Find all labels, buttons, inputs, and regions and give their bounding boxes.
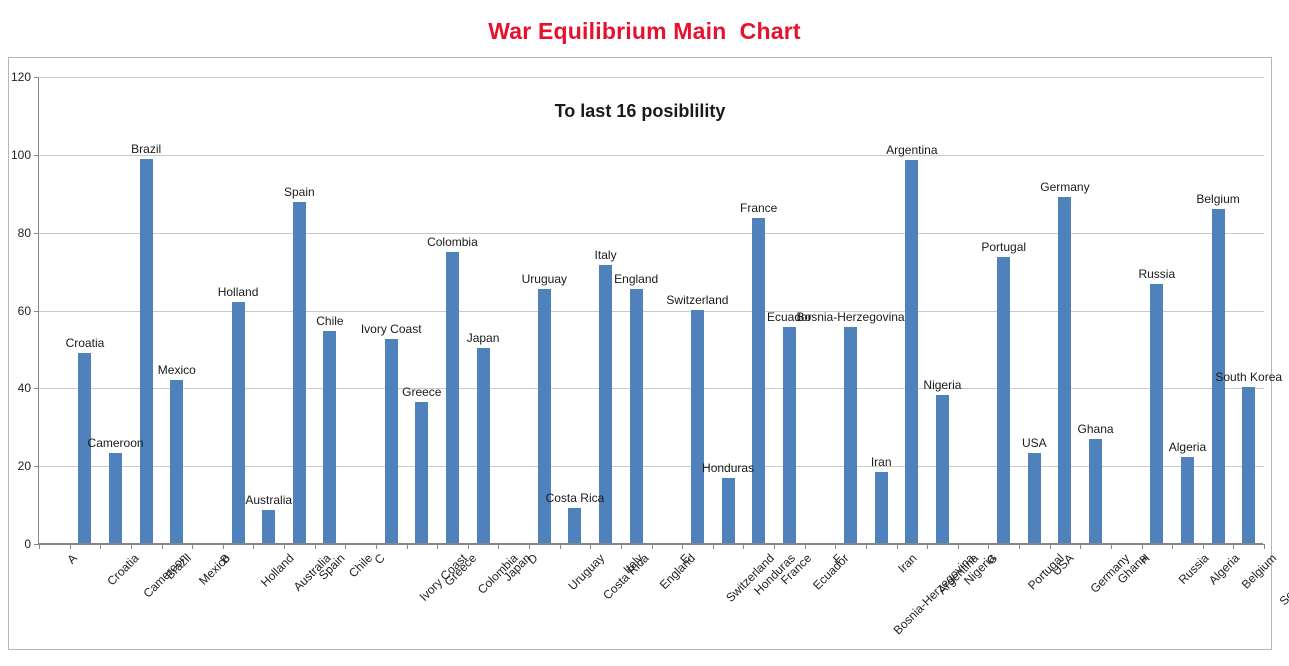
x-tick-mark — [1080, 544, 1081, 549]
x-tick-mark — [376, 544, 377, 549]
y-tick-label: 0 — [0, 537, 31, 551]
bar-data-label: Spain — [284, 185, 315, 199]
y-tick-label: 20 — [0, 459, 31, 473]
bar[interactable] — [568, 508, 581, 543]
x-tick-mark — [131, 544, 132, 549]
x-tick-mark — [284, 544, 285, 549]
x-tick-mark — [70, 544, 71, 549]
bar-data-label: Colombia — [427, 235, 478, 249]
x-tick-mark — [958, 544, 959, 549]
bar[interactable] — [323, 331, 336, 543]
y-tick-mark — [34, 311, 39, 312]
bar[interactable] — [232, 302, 245, 543]
bar-data-label: Argentina — [886, 143, 937, 157]
bar[interactable] — [936, 395, 949, 543]
x-tick-mark — [1203, 544, 1204, 549]
x-tick-mark — [743, 544, 744, 549]
bar[interactable] — [385, 339, 398, 543]
x-tick-mark — [1233, 544, 1234, 549]
bar[interactable] — [477, 348, 490, 543]
bar[interactable] — [293, 202, 306, 543]
bar-data-label: USA — [1022, 436, 1047, 450]
bar-data-label: Algeria — [1169, 440, 1206, 454]
x-tick-mark — [498, 544, 499, 549]
x-tick-mark — [223, 544, 224, 549]
bar-data-label: Mexico — [158, 363, 196, 377]
x-tick-mark — [1111, 544, 1112, 549]
bar-data-label: South Korea — [1215, 370, 1282, 384]
x-tick-mark — [100, 544, 101, 549]
x-tick-mark — [713, 544, 714, 549]
bar-data-label: Nigeria — [923, 378, 961, 392]
x-tick-mark — [805, 544, 806, 549]
gridline — [39, 77, 1264, 78]
x-tick-mark — [1172, 544, 1173, 549]
x-tick-mark — [162, 544, 163, 549]
y-tick-label: 60 — [0, 304, 31, 318]
x-tick-mark — [927, 544, 928, 549]
x-tick-mark — [835, 544, 836, 549]
x-tick-mark — [621, 544, 622, 549]
bar-data-label: Italy — [595, 248, 617, 262]
x-tick-mark — [253, 544, 254, 549]
plot-area: 020406080100120 CroatiaCameroonBrazilMex… — [38, 77, 1263, 544]
bar-data-label: Brazil — [131, 142, 161, 156]
x-tick-mark — [1142, 544, 1143, 549]
bar[interactable] — [630, 289, 643, 543]
bar[interactable] — [1181, 457, 1194, 543]
bar[interactable] — [722, 478, 735, 543]
y-tick-label: 100 — [0, 148, 31, 162]
chart-title: War Equilibrium Main Chart — [0, 18, 1289, 45]
gridline — [39, 388, 1264, 389]
bar[interactable] — [262, 510, 275, 543]
x-tick-mark — [529, 544, 530, 549]
gridline — [39, 466, 1264, 467]
bar-data-label: Switzerland — [666, 293, 728, 307]
bar-data-label: Australia — [245, 493, 292, 507]
bar[interactable] — [997, 257, 1010, 543]
bar[interactable] — [905, 160, 918, 543]
x-tick-mark — [560, 544, 561, 549]
bar[interactable] — [1058, 197, 1071, 543]
bar-data-label: Uruguay — [522, 272, 567, 286]
x-tick-mark — [988, 544, 989, 549]
y-tick-mark — [34, 466, 39, 467]
bar-data-label: Germany — [1040, 180, 1089, 194]
bar[interactable] — [170, 380, 183, 543]
bar-data-label: Ivory Coast — [361, 322, 422, 336]
bar[interactable] — [783, 327, 796, 543]
y-tick-mark — [34, 155, 39, 156]
chart-container: War Equilibrium Main Chart To last 16 po… — [0, 0, 1289, 666]
bar[interactable] — [1242, 387, 1255, 543]
bar-data-label: Iran — [871, 455, 892, 469]
y-tick-mark — [34, 388, 39, 389]
bar-data-label: Holland — [218, 285, 259, 299]
y-tick-mark — [34, 77, 39, 78]
x-tick-mark — [407, 544, 408, 549]
bar[interactable] — [415, 402, 428, 543]
x-tick-mark — [590, 544, 591, 549]
bar[interactable] — [1028, 453, 1041, 543]
x-tick-mark — [437, 544, 438, 549]
x-tick-mark — [468, 544, 469, 549]
x-tick-mark — [1264, 544, 1265, 549]
x-tick-mark — [652, 544, 653, 549]
bar[interactable] — [1150, 284, 1163, 543]
x-tick-mark — [192, 544, 193, 549]
x-tick-mark — [345, 544, 346, 549]
bar[interactable] — [752, 218, 765, 543]
bar-data-label: Portugal — [981, 240, 1026, 254]
gridline — [39, 233, 1264, 234]
bar-data-label: Ghana — [1078, 422, 1114, 436]
x-tick-mark — [866, 544, 867, 549]
x-tick-mark — [1019, 544, 1020, 549]
bar-data-label: Cameroon — [88, 436, 144, 450]
y-tick-mark — [34, 233, 39, 234]
gridline — [39, 155, 1264, 156]
bar[interactable] — [1089, 439, 1102, 543]
bar-data-label: Russia — [1138, 267, 1175, 281]
bar-data-label: Costa Rica — [546, 491, 605, 505]
y-tick-label: 40 — [0, 381, 31, 395]
bar[interactable] — [844, 327, 857, 543]
bar-data-label: Bosnia-Herzegovina — [797, 310, 905, 324]
x-tick-mark — [39, 544, 40, 549]
y-tick-label: 120 — [0, 70, 31, 84]
x-tick-mark — [897, 544, 898, 549]
bar-data-label: Japan — [467, 331, 500, 345]
x-tick-mark — [774, 544, 775, 549]
x-tick-mark — [1050, 544, 1051, 549]
bar-data-label: Honduras — [702, 461, 754, 475]
bar-data-label: Chile — [316, 314, 343, 328]
bar[interactable] — [446, 252, 459, 543]
x-tick-mark — [682, 544, 683, 549]
gridline — [39, 311, 1264, 312]
bar-data-label: Greece — [402, 385, 441, 399]
bar[interactable] — [140, 159, 153, 543]
bar-data-label: Croatia — [66, 336, 105, 350]
bar-data-label: England — [614, 272, 658, 286]
bar-data-label: France — [740, 201, 777, 215]
bar[interactable] — [691, 310, 704, 544]
y-tick-label: 80 — [0, 226, 31, 240]
bar[interactable] — [109, 453, 122, 543]
x-tick-mark — [315, 544, 316, 549]
bar[interactable] — [875, 472, 888, 543]
bar-data-label: Belgium — [1196, 192, 1239, 206]
